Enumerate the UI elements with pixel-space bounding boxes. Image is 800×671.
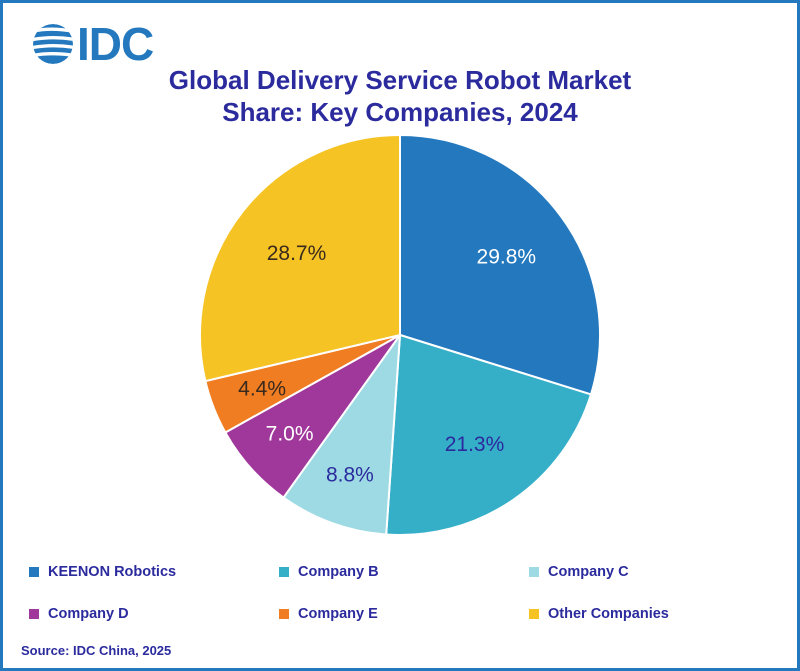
legend-swatch-icon (529, 567, 539, 577)
globe-icon (31, 22, 75, 66)
legend-swatch-icon (279, 567, 289, 577)
idc-logo-text: IDC (77, 21, 153, 67)
legend-swatch-icon (279, 609, 289, 619)
source-note: Source: IDC China, 2025 (21, 643, 171, 658)
pie-slice-label: 4.4% (238, 378, 286, 401)
pie-slice-label: 7.0% (266, 423, 314, 446)
legend-label: Company D (48, 606, 129, 622)
legend-item-company-d[interactable]: Company D (29, 606, 279, 622)
legend-swatch-icon (29, 609, 39, 619)
pie-slice-label: 8.8% (326, 463, 374, 486)
pie-slice-label: 29.8% (477, 246, 537, 269)
chart-title-line-2: Share: Key Companies, 2024 (93, 97, 707, 129)
legend-label: Company C (548, 564, 629, 580)
legend-swatch-icon (529, 609, 539, 619)
legend-item-company-c[interactable]: Company C (529, 564, 779, 580)
legend-item-other-companies[interactable]: Other Companies (529, 606, 779, 622)
chart-title: Global Delivery Service Robot Market Sha… (3, 65, 797, 128)
legend-item-keenon-robotics[interactable]: KEENON Robotics (29, 564, 279, 580)
pie-chart-area: 29.8%21.3%8.8%7.0%4.4%28.7% (3, 131, 797, 541)
pie-chart: 29.8%21.3%8.8%7.0%4.4%28.7% (175, 131, 625, 539)
legend-label: Company E (298, 606, 378, 622)
legend-label: Other Companies (548, 606, 669, 622)
chart-page: IDC Global Delivery Service Robot Market… (0, 0, 800, 671)
idc-logo: IDC (31, 19, 153, 69)
legend-label: Company B (298, 564, 379, 580)
legend-label: KEENON Robotics (48, 564, 176, 580)
chart-legend: KEENON Robotics Company B Company C Comp… (29, 551, 779, 635)
pie-slice-label: 28.7% (267, 242, 327, 265)
legend-item-company-e[interactable]: Company E (279, 606, 529, 622)
pie-slice-label: 21.3% (445, 433, 505, 456)
legend-swatch-icon (29, 567, 39, 577)
chart-title-line-1: Global Delivery Service Robot Market (93, 65, 707, 97)
legend-item-company-b[interactable]: Company B (279, 564, 529, 580)
